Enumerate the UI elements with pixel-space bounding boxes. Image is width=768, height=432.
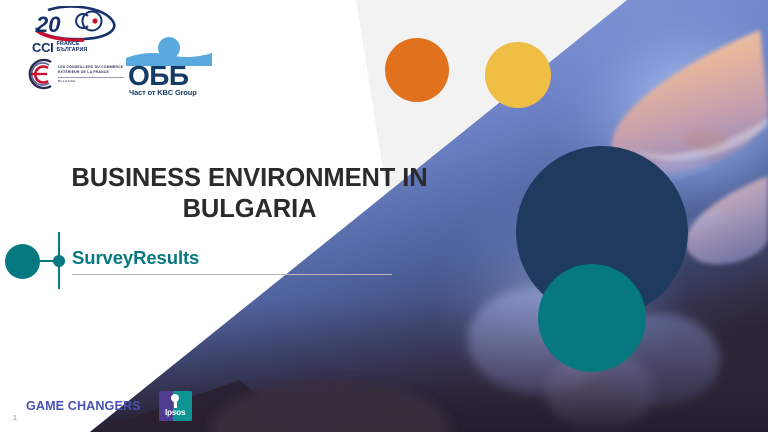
cce-france-logo: LES CONSEILLERS DU COMMERCE EXTÉRIEUR DE…	[18, 56, 128, 94]
cci-france-bulgaria-logo: 20 CCI FRANCE БЪЛГАРИЯ	[20, 6, 124, 56]
subtitle-underline	[72, 274, 392, 275]
footer-branding: GAME CHANGERS Ipsos	[26, 389, 192, 423]
svg-text:20: 20	[35, 12, 61, 37]
ipsos-wordmark: Ipsos	[159, 408, 192, 417]
obb-bank-logo: ОББ Част от KBC Group	[126, 36, 212, 98]
slide-root: 20 CCI FRANCE БЪЛГАРИЯ LE	[0, 0, 768, 432]
cci-line-bulgaria: БЪЛГАРИЯ	[57, 48, 88, 54]
cce-line-2: EXTÉRIEUR DE LA FRANCE	[58, 70, 126, 75]
cce-wordmark: LES CONSEILLERS DU COMMERCE EXTÉRIEUR DE…	[58, 65, 126, 83]
cce-emblem-icon	[18, 56, 58, 92]
obb-name: ОББ	[128, 62, 189, 90]
cci-anniversary-mark: 20	[20, 6, 124, 42]
subtitle-text: SurveyResults	[72, 247, 199, 269]
obb-tagline: Част от KBC Group	[129, 88, 197, 97]
subtitle-small-dot-icon	[53, 255, 65, 267]
yellow-circle	[485, 42, 551, 108]
page-number: 1	[13, 415, 17, 422]
teal-circle	[538, 264, 646, 372]
subtitle-large-dot-icon	[5, 244, 40, 279]
cci-letters: CCI	[32, 41, 54, 54]
cce-line-3: BULGARIE	[58, 79, 126, 83]
ipsos-logo: Ipsos	[159, 391, 192, 421]
ipsos-stem-icon	[174, 400, 177, 408]
orange-circle	[385, 38, 449, 102]
page-title: BUSINESS ENVIRONMENT IN BULGARIA	[22, 163, 477, 225]
partner-logos: 20 CCI FRANCE БЪЛГАРИЯ LE	[14, 6, 224, 102]
navy-circle	[516, 146, 688, 318]
subtitle-block: SurveyResults	[0, 232, 420, 307]
cce-divider	[58, 77, 124, 78]
game-changers-tagline: GAME CHANGERS	[26, 399, 141, 413]
